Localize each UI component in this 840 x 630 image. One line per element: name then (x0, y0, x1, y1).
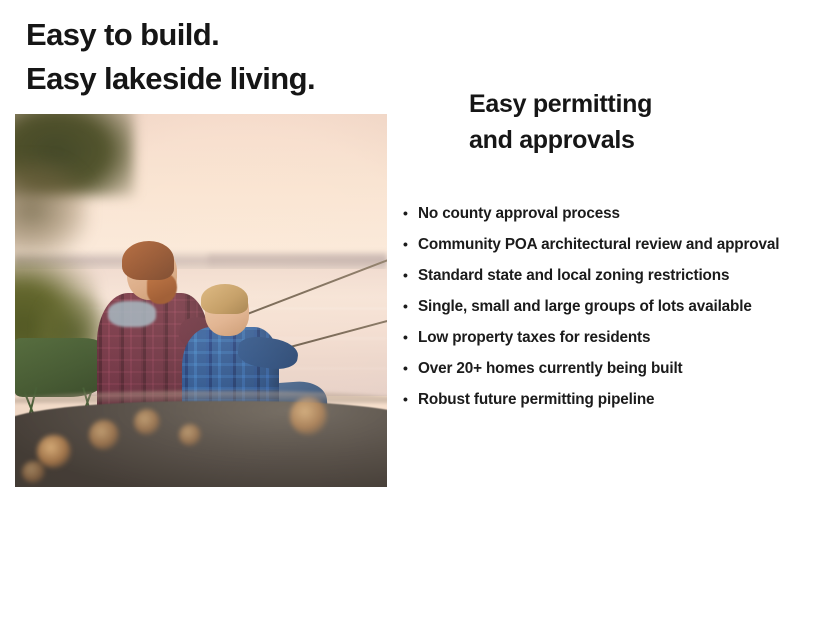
page-title-line-1: Easy to build. (26, 13, 426, 57)
lens-flare-bokeh (134, 409, 160, 435)
list-item: Robust future permitting pipeline (402, 384, 840, 415)
blurred-foliage (15, 159, 89, 256)
boy-hair (201, 284, 248, 314)
list-item: Low property taxes for residents (402, 322, 840, 353)
lens-flare-bokeh (37, 435, 70, 469)
rock-ledge (15, 401, 387, 487)
feature-bullet-list: No county approval process Community POA… (402, 198, 840, 415)
section-heading-line-2: and approvals (469, 122, 829, 158)
page-title-line-2: Easy lakeside living. (26, 57, 426, 101)
man-hair (122, 241, 174, 280)
lakeside-fishing-photo (15, 114, 387, 487)
lens-flare-bokeh (22, 461, 44, 483)
page-title: Easy to build. Easy lakeside living. (26, 13, 426, 101)
lens-flare-bokeh (89, 420, 119, 450)
lens-flare-bokeh (290, 397, 327, 434)
lens-flare-bokeh (179, 424, 201, 446)
section-heading-line-1: Easy permitting (469, 86, 829, 122)
list-item: Over 20+ homes currently being built (402, 353, 840, 384)
list-item: Standard state and local zoning restrict… (402, 260, 840, 291)
list-item: Community POA architectural review and a… (402, 229, 840, 260)
man-collar (108, 301, 156, 327)
list-item: Single, small and large groups of lots a… (402, 291, 840, 322)
section-heading: Easy permitting and approvals (469, 86, 829, 158)
list-item: No county approval process (402, 198, 840, 229)
